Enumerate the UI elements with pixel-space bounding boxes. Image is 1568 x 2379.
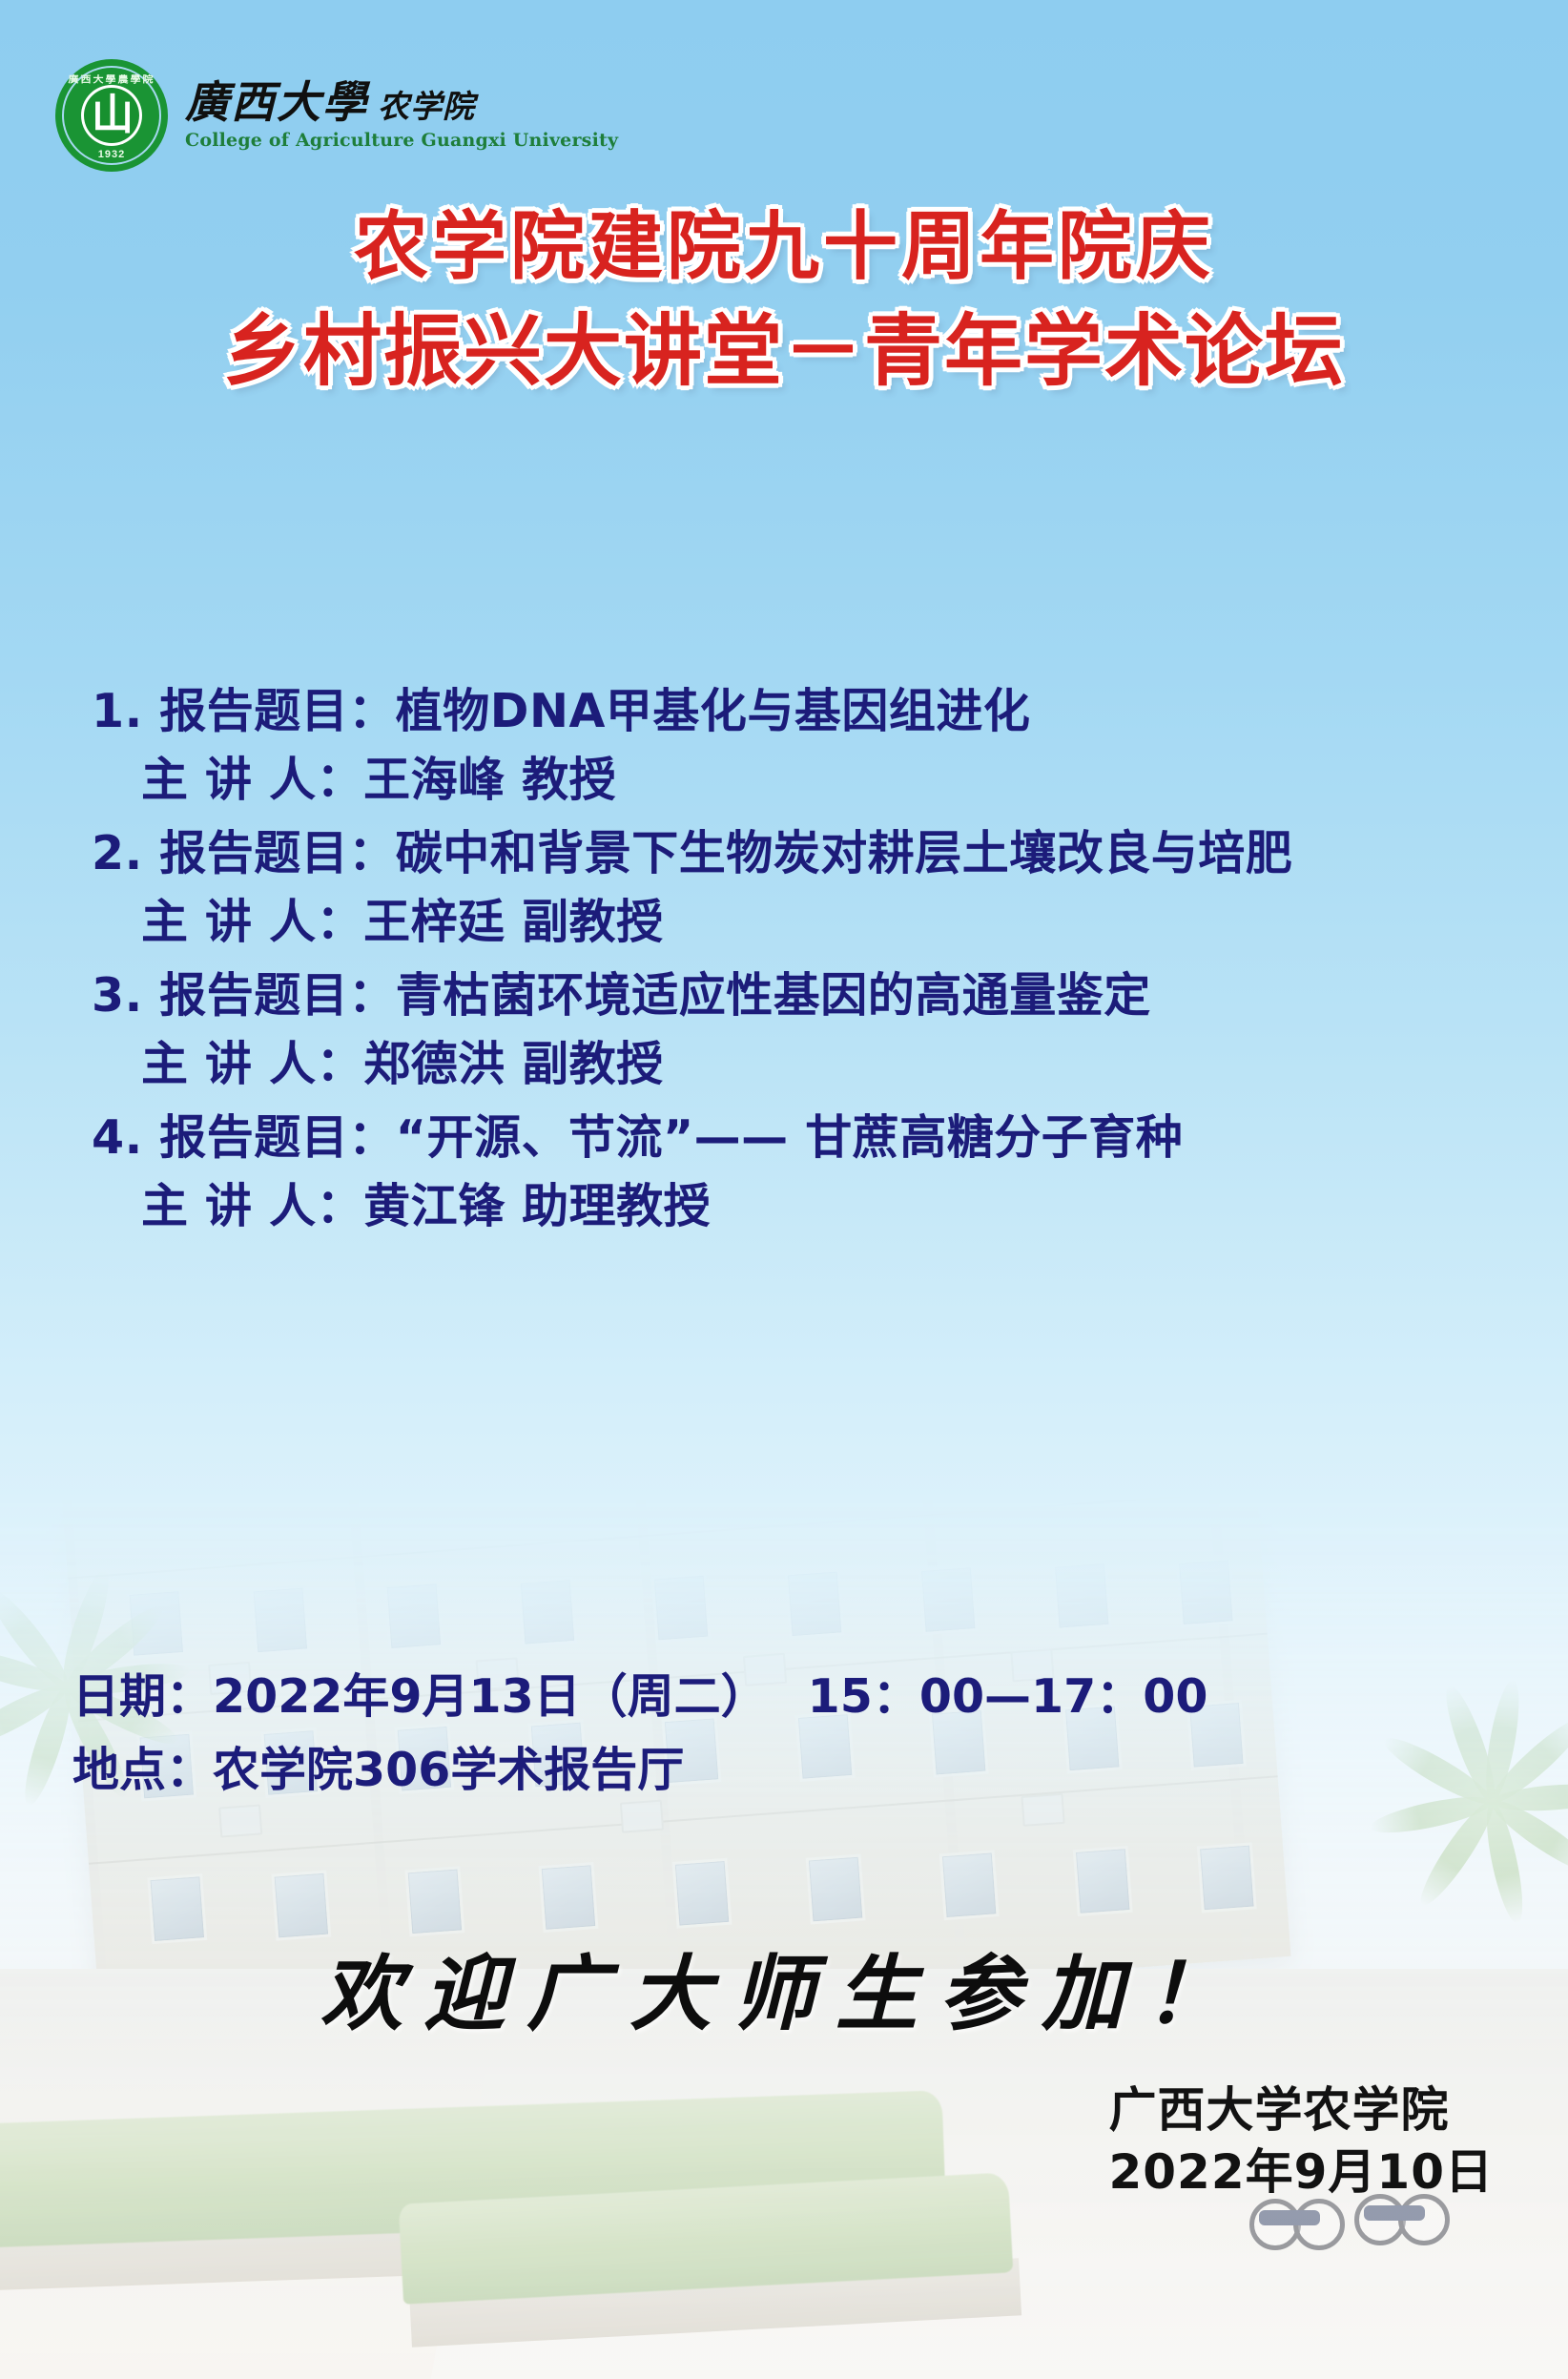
program-item-title: 1. 报告题目：植物DNA甲基化与基因组进化 xyxy=(92,677,1511,746)
poster-root: 廣西大學農學院 山 1932 廣西大學农学院 College of Agricu… xyxy=(0,0,1568,2379)
program-item: 1. 报告题目：植物DNA甲基化与基因组进化 主 讲 人：王海峰 教授 xyxy=(92,677,1511,814)
program-item: 4. 报告题目：“开源、节流”—— 甘蔗高糖分子育种 主 讲 人：黄江锋 助理教… xyxy=(92,1104,1511,1240)
university-seal-icon: 廣西大學農學院 山 1932 xyxy=(55,59,168,172)
institution-header: 廣西大學農學院 山 1932 廣西大學农学院 College of Agricu… xyxy=(55,59,618,172)
event-date-row: 日期：2022年9月13日（周二）15：00—17：00 xyxy=(72,1660,1207,1733)
signature-organization: 广西大学农学院 xyxy=(1108,2079,1494,2141)
page-title-line-1: 农学院建院九十周年院庆 xyxy=(0,202,1568,293)
seal-year: 1932 xyxy=(55,149,168,160)
program-list: 1. 报告题目：植物DNA甲基化与基因组进化 主 讲 人：王海峰 教授 2. 报… xyxy=(92,677,1511,1246)
program-item-speaker: 主 讲 人：王梓廷 副教授 xyxy=(92,888,1511,957)
event-time: 15：00—17：00 xyxy=(808,1669,1208,1724)
wordmark-english: College of Agriculture Guangxi Universit… xyxy=(185,130,618,151)
program-item-speaker: 主 讲 人：黄江锋 助理教授 xyxy=(92,1172,1511,1241)
page-title-line-2: 乡村振兴大讲堂－青年学术论坛 xyxy=(0,304,1568,400)
welcome-message: 欢迎广大师生参加！ xyxy=(0,1927,1568,2046)
event-date: 日期：2022年9月13日（周二） xyxy=(72,1669,768,1724)
wordmark-university: 廣西大學 xyxy=(185,76,368,128)
program-item: 3. 报告题目：青枯菌环境适应性基因的高通量鉴定 主 讲 人：郑德洪 副教授 xyxy=(92,962,1511,1098)
wordmark: 廣西大學农学院 College of Agriculture Guangxi U… xyxy=(185,80,618,151)
seal-center-glyph: 山 xyxy=(81,85,142,146)
poster-titles: 农学院建院九十周年院庆 乡村振兴大讲堂－青年学术论坛 xyxy=(0,202,1568,400)
signature-block: 广西大学农学院 2022年9月10日 xyxy=(1108,2079,1494,2203)
program-item-title: 4. 报告题目：“开源、节流”—— 甘蔗高糖分子育种 xyxy=(92,1104,1511,1172)
program-item: 2. 报告题目：碳中和背景下生物炭对耕层土壤改良与培肥 主 讲 人：王梓廷 副教… xyxy=(92,819,1511,956)
program-item-title: 2. 报告题目：碳中和背景下生物炭对耕层土壤改良与培肥 xyxy=(92,819,1511,888)
wordmark-chinese: 廣西大學农学院 xyxy=(185,80,618,126)
program-item-title: 3. 报告题目：青枯菌环境适应性基因的高通量鉴定 xyxy=(92,962,1511,1030)
program-item-speaker: 主 讲 人：郑德洪 副教授 xyxy=(92,1030,1511,1099)
wordmark-college: 农学院 xyxy=(378,88,475,125)
signature-date: 2022年9月10日 xyxy=(1108,2141,1494,2203)
event-meta: 日期：2022年9月13日（周二）15：00—17：00 地点：农学院306学术… xyxy=(72,1660,1207,1808)
program-item-speaker: 主 讲 人：王海峰 教授 xyxy=(92,746,1511,815)
event-place: 地点：农学院306学术报告厅 xyxy=(72,1733,1207,1807)
